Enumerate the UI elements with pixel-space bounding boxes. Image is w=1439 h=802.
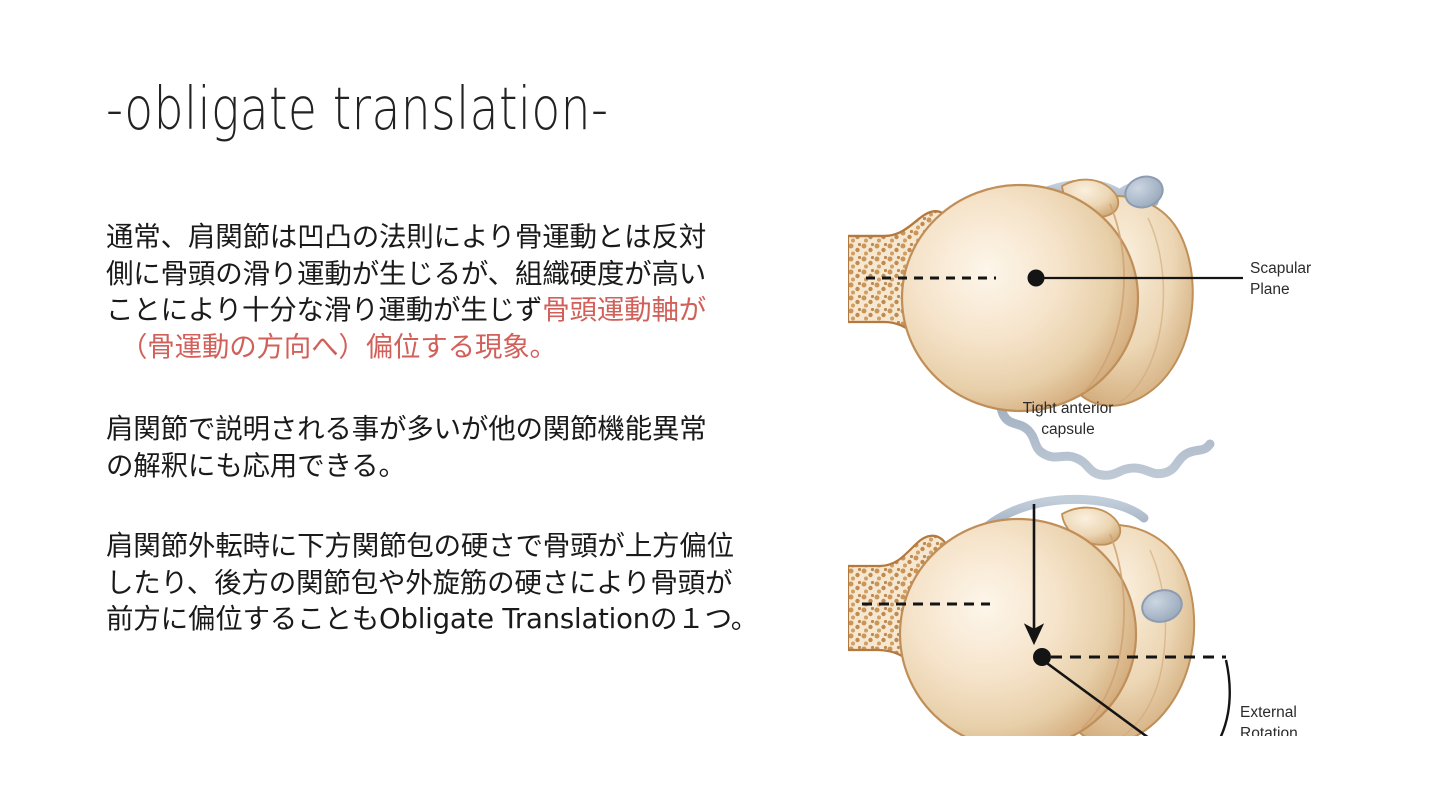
- para1-line4-highlight: （骨運動の方向へ）偏位する現象。: [106, 329, 706, 366]
- body-paragraph-1: 通常、肩関節は凹凸の法則により骨運動とは反対 側に骨頭の滑り運動が生じるが、組織…: [106, 219, 706, 365]
- caption-top-line2: capsule: [1041, 421, 1094, 438]
- para2-line1: 肩関節で説明される事が多いが他の関節機能異常: [106, 413, 707, 445]
- para1-line2: 側に骨頭の滑り運動が生じるが、組織硬度が高い: [106, 258, 706, 290]
- tight-anterior-capsule-caption: Tight anterior capsule: [1023, 400, 1114, 438]
- para3-line1: 肩関節外転時に下方関節包の硬さで骨頭が上方偏位: [106, 530, 734, 562]
- external-rotation-arrow: [1206, 660, 1230, 736]
- shoulder-anatomy-figure: Scapular Plane Tight anterior capsule: [848, 126, 1368, 736]
- para3-line3: 前方に偏位することもObligate Translationの１つ。: [106, 603, 758, 635]
- page-title: -obligate translation-: [106, 78, 608, 140]
- external-rotation-label-line2: Rotation: [1240, 725, 1298, 736]
- body-paragraph-2: 肩関節で説明される事が多いが他の関節機能異常 の解釈にも応用できる。: [106, 411, 707, 484]
- humeral-head-top: [902, 180, 1193, 411]
- external-rotation-label-line1: External: [1240, 704, 1297, 721]
- slide-canvas: -obligate translation- 通常、肩関節は凹凸の法則により骨運…: [0, 0, 1439, 802]
- para1-line3-highlight: 骨頭運動軸が: [542, 294, 706, 326]
- bottom-diagram: External Rotation Obligate posterior tra…: [848, 499, 1298, 736]
- para1-line1: 通常、肩関節は凹凸の法則により骨運動とは反対: [106, 221, 706, 253]
- para1-line3-black: ことにより十分な滑り運動が生じず: [106, 294, 542, 326]
- para2-line2: の解釈にも応用できる。: [106, 450, 406, 482]
- scapular-plane-label-line2: Plane: [1250, 281, 1290, 298]
- scapular-plane-label-line1: Scapular: [1250, 260, 1311, 277]
- body-paragraph-3: 肩関節外転時に下方関節包の硬さで骨頭が上方偏位 したり、後方の関節包や外旋筋の硬…: [106, 528, 758, 638]
- caption-top-line1: Tight anterior: [1023, 400, 1114, 417]
- para3-line2: したり、後方の関節包や外旋筋の硬さにより骨頭が: [106, 567, 732, 599]
